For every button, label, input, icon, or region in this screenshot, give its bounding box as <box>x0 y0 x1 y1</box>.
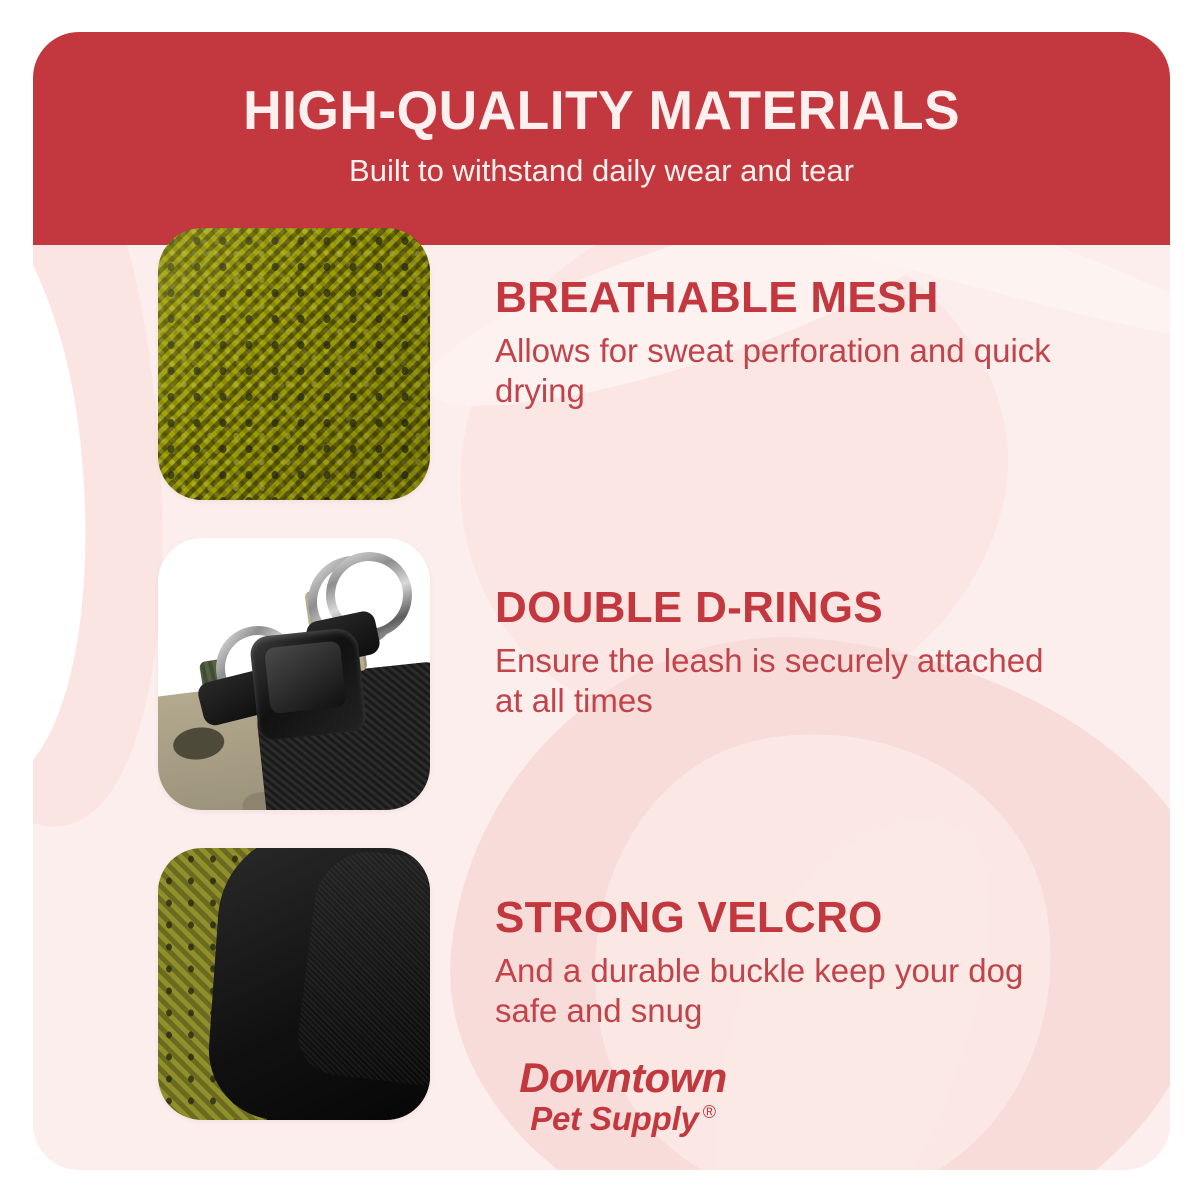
mesh-texture-sheen <box>158 228 430 500</box>
black-buckle <box>249 627 367 742</box>
feature-description: Ensure the leash is securely attached at… <box>495 641 1058 722</box>
feature-text-block: BREATHABLE MESH Allows for sweat perfora… <box>495 228 1058 412</box>
feature-list: BREATHABLE MESH Allows for sweat perfora… <box>0 0 1200 1200</box>
registered-trademark-icon: ® <box>703 1102 716 1122</box>
velcro-pad <box>204 848 430 1120</box>
feature-description: Allows for sweat perforation and quick d… <box>495 331 1058 412</box>
buckle-face <box>264 640 346 714</box>
brand-logo: Downtown Pet Supply® <box>473 1057 773 1135</box>
feature-title: DOUBLE D-RINGS <box>495 586 1058 630</box>
double-d-rings-image <box>158 538 430 810</box>
feature-title: STRONG VELCRO <box>495 896 1058 940</box>
feature-title: BREATHABLE MESH <box>495 276 1058 320</box>
infographic-canvas: HIGH-QUALITY MATERIALS Built to withstan… <box>0 0 1200 1200</box>
feature-text-block: DOUBLE D-RINGS Ensure the leash is secur… <box>495 538 1058 722</box>
breathable-mesh-image <box>158 228 430 500</box>
brand-logo-line1: Downtown <box>473 1057 773 1099</box>
feature-description: And a durable buckle keep your dog safe … <box>495 951 1058 1032</box>
feature-row: BREATHABLE MESH Allows for sweat perfora… <box>158 228 1058 500</box>
velcro-hook-surface <box>294 848 430 1094</box>
d-rings-scene <box>158 538 430 810</box>
feature-text-block: STRONG VELCRO And a durable buckle keep … <box>495 848 1058 1032</box>
feature-row: DOUBLE D-RINGS Ensure the leash is secur… <box>158 538 1058 810</box>
brand-logo-line2-text: Pet Supply <box>530 1100 699 1137</box>
brand-logo-line2: Pet Supply® <box>473 1102 773 1135</box>
strong-velcro-image <box>158 848 430 1120</box>
